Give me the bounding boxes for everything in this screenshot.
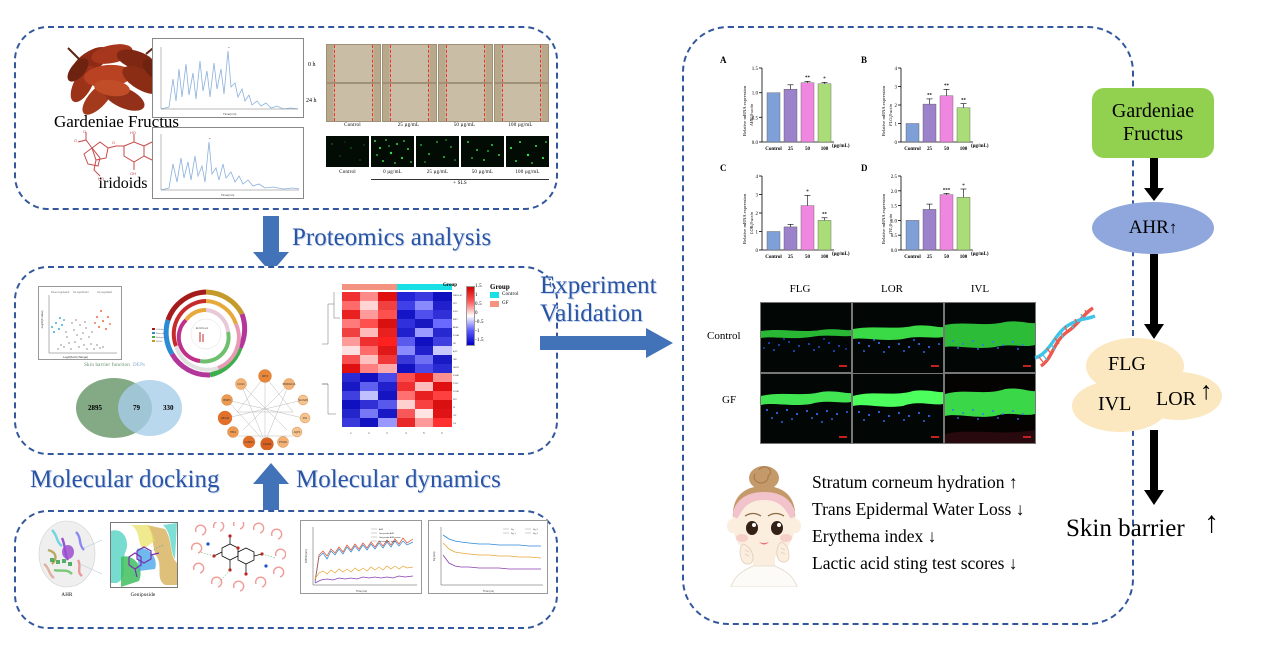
molecular-dynamics-label: Molecular dynamics [296, 466, 501, 494]
svg-text:Control: Control [904, 255, 921, 260]
svg-text:AHR: AHR [379, 528, 384, 531]
if-image-control-flg [760, 302, 852, 373]
chromatogram-bottom: Time(min) * [152, 127, 304, 199]
svg-text:1: 1 [350, 432, 352, 435]
svg-text:2: 2 [368, 432, 370, 435]
svg-text:Geniposide-Ligand: Geniposide-Ligand [379, 541, 396, 543]
svg-text:O: O [83, 130, 86, 134]
arrow-ahr-to-targets [1143, 254, 1165, 345]
clinical-outcome-sting-test: Lactic acid sting test scores ↓ [812, 553, 1018, 574]
svg-text:LOR/β-actin: LOR/β-actin [749, 211, 754, 235]
panel-letter-b: B [861, 55, 867, 65]
svg-text:*: * [228, 46, 230, 50]
scratch-assay-image [438, 83, 493, 122]
svg-text:100: 100 [960, 147, 968, 152]
svg-text:KLK10: KLK10 [237, 383, 245, 386]
svg-text:LOR: LOR [453, 415, 457, 417]
arrow-targets-to-skin-barrier [1143, 430, 1165, 511]
svg-text:Biological: Biological [156, 337, 166, 339]
scratch-assay-row-label-24h: 24 h [306, 98, 317, 104]
bar-chart-a: 0.00.5 1.01.5 *** Control25 50100 Relati… [736, 58, 840, 163]
svg-text:Control: Control [765, 255, 782, 260]
skin-barrier-up-arrow: ↑ [1204, 508, 1219, 538]
svg-text:TBK1: TBK1 [453, 359, 457, 361]
svg-text:Time (ns): Time (ns) [356, 589, 367, 593]
fluorescence-col-label: 50 µg/mL [461, 170, 504, 175]
heatmap: PPARGC1AKRT2KLK10 BNIP3ABCA8SLC6A8 FN1AQ… [318, 284, 464, 439]
svg-text:50: 50 [805, 147, 811, 152]
scratch-assay-image [438, 44, 493, 83]
scratch-col-label: Control [326, 123, 379, 128]
target-label-flg: FLG [1108, 353, 1146, 376]
gf-box-line2: Fructus [1112, 123, 1194, 146]
fluorescence-image [416, 136, 459, 167]
venn-right-count: 330 [163, 404, 174, 412]
svg-text:-Log10(P value): -Log10(P value) [40, 310, 44, 329]
heatmap-scale-bar [466, 286, 475, 346]
svg-text:4: 4 [895, 67, 898, 72]
scratch-assay-image [326, 83, 381, 122]
svg-text:Control: Control [765, 147, 782, 152]
svg-text:ABCA8: ABCA8 [221, 417, 230, 420]
heatmap-scale-tick: 0 [475, 311, 478, 316]
clinical-outcome-hydration: Stratum corneum hydration ↑ [812, 472, 1018, 493]
svg-text:KRT1: KRT1 [453, 399, 457, 401]
bar-chart-d: 0.00.51.0 1.52.02.5 **** Control25 50100… [875, 166, 979, 271]
fluorescence-image [371, 136, 414, 167]
svg-text:*: * [823, 77, 826, 82]
sls-bracket-label: + SLS [371, 181, 549, 186]
geniposide-label: Geniposide [108, 593, 178, 598]
woman-face-illustration [715, 462, 813, 587]
svg-text:Relative mRNA expression: Relative mRNA expression [742, 85, 747, 136]
svg-text:2: 2 [756, 212, 759, 217]
legend-swatch-control [490, 292, 499, 298]
svg-text:SLC6A8: SLC6A8 [299, 399, 309, 402]
svg-text:Time (ns): Time (ns) [483, 589, 494, 593]
if-col-label-ivl: IVL [940, 283, 1020, 295]
svg-text:IVL/β-actin: IVL/β-actin [888, 213, 893, 235]
if-col-label-lor: LOR [852, 283, 932, 295]
gf-box-line1: Gardeniae [1112, 100, 1194, 123]
heatmap-scale-tick: 0.5 [475, 302, 482, 307]
clinical-outcome-erythema: Erythema index ↓ [812, 526, 936, 547]
svg-text:Rg: Rg [511, 529, 514, 531]
venn-left-label: Skin barrier function [72, 363, 142, 368]
svg-text:PTGS2: PTGS2 [279, 441, 288, 444]
legend-label-control: Control [502, 292, 519, 297]
svg-text:**: ** [927, 94, 933, 99]
binding-pocket-view [110, 522, 178, 588]
svg-text:CASP14: CASP14 [244, 441, 254, 444]
md-rg-plot: RgRg_Y Rg_XRg_Z Time (ns) Rg (nm) [428, 520, 548, 594]
svg-text:KLK10: KLK10 [453, 311, 458, 313]
svg-text:0.0: 0.0 [752, 141, 759, 146]
heatmap-scale-tick: -1 [475, 329, 480, 334]
svg-text:Rg_X: Rg_X [533, 529, 539, 531]
svg-text:ABCA8: ABCA8 [453, 326, 458, 329]
experiment-validation-label-line1: Experiment [540, 272, 657, 300]
target-label-ivl: IVL [1098, 393, 1131, 416]
fluorescence-image [326, 136, 369, 167]
clinical-outcome-tewl: Trans Epidermal Water Loss ↓ [812, 499, 1024, 520]
svg-text:1.5: 1.5 [752, 67, 759, 72]
unit-label-d: (µg/mL) [971, 252, 989, 257]
svg-text:KRT2: KRT2 [453, 303, 457, 305]
svg-text:1: 1 [756, 231, 759, 236]
molecular-docking-label: Molecular docking [30, 466, 220, 494]
proteomics-analysis-label: Proteomics analysis [292, 224, 491, 252]
fluorescence-image [461, 136, 504, 167]
scratch-assay-image [326, 44, 381, 83]
svg-text:6: 6 [441, 432, 443, 435]
volcano-plot: Log2(Fold change) Down-regulated No sign… [38, 286, 122, 360]
svg-text:**: ** [961, 99, 967, 104]
svg-text:S100A9: S100A9 [453, 374, 459, 377]
svg-text:PTGS2: PTGS2 [453, 383, 458, 385]
svg-text:**: ** [805, 76, 811, 81]
heatmap-scale-tick: -1.5 [475, 338, 484, 343]
svg-text:*: * [806, 190, 809, 195]
venn-overlap-count: 79 [133, 404, 140, 412]
unit-label-b: (µg/mL) [971, 144, 989, 149]
svg-text:SLC3A2: SLC3A2 [453, 390, 459, 393]
svg-text:Rg_Y: Rg_Y [511, 533, 517, 535]
ahr-protein-structure [32, 518, 102, 590]
fluorescence-col-label: 25 µg/mL [416, 170, 459, 175]
heatmap-scale-tick: -0.5 [475, 320, 484, 325]
venn-diagram [62, 364, 200, 442]
ppi-network: KRT2KLK10PPARGC1A BNIP3SLC6A8ABCA8 FN1TB… [215, 368, 315, 450]
svg-text:2: 2 [895, 104, 898, 109]
panel-letter-a: A [720, 55, 727, 65]
sls-bracket [371, 179, 549, 180]
fluorescence-col-label: 100 µg/mL [506, 170, 549, 175]
svg-text:IVL: IVL [453, 407, 456, 409]
svg-text:FN1: FN1 [303, 417, 308, 420]
svg-text:1.5: 1.5 [891, 205, 898, 210]
svg-text:O: O [74, 138, 77, 143]
bar-chart-c: 012 34 *** Control25 50100 Relative mRNA… [736, 166, 840, 271]
svg-text:***: *** [943, 189, 951, 194]
scratch-col-label: 50 µg/mL [438, 123, 491, 128]
svg-text:**: ** [944, 84, 950, 89]
svg-text:RMSD (nm): RMSD (nm) [304, 549, 308, 563]
experiment-validation-arrow [540, 328, 674, 363]
if-image-gf-ivl [944, 373, 1036, 444]
svg-text:Control: Control [904, 147, 921, 152]
target-label-lor: LOR [1156, 388, 1196, 411]
scratch-assay-image [494, 83, 549, 122]
heatmap-group-row-title: Group [443, 283, 457, 288]
scratch-assay-row-label-0h: 0 h [308, 62, 316, 68]
ahr-node: AHR↑ [1092, 202, 1214, 254]
svg-text:4: 4 [405, 432, 407, 435]
svg-text:*: * [209, 137, 211, 141]
svg-text:1.0: 1.0 [752, 92, 759, 97]
svg-text:SLC6A8: SLC6A8 [453, 334, 459, 337]
svg-text:1: 1 [895, 123, 898, 128]
svg-text:FN1: FN1 [453, 343, 456, 345]
svg-text:AQP3: AQP3 [294, 431, 301, 434]
venn-right-label: DEPs [133, 363, 145, 368]
svg-text:PPARGC1A: PPARGC1A [453, 294, 462, 297]
svg-text:Enrichment: Enrichment [196, 327, 208, 330]
svg-text:Log2(Fold change): Log2(Fold change) [63, 355, 88, 359]
svg-text:50: 50 [944, 255, 950, 260]
gardeniae-fructus-box: Gardeniae Fructus [1092, 88, 1214, 158]
svg-text:25: 25 [788, 147, 794, 152]
svg-text:0.0: 0.0 [891, 249, 898, 254]
svg-text:BNIP3: BNIP3 [224, 399, 232, 402]
heatmap-scale-tick: 1.5 [475, 284, 482, 289]
unit-label-c: (µg/mL) [832, 252, 850, 257]
svg-text:TBK1: TBK1 [230, 431, 237, 434]
svg-text:Time(min): Time(min) [223, 112, 236, 116]
if-row-label-control: Control [707, 330, 741, 342]
svg-text:AHR/β-actin: AHR/β-actin [749, 103, 754, 127]
if-image-gf-flg [760, 373, 852, 444]
svg-text:S100A9: S100A9 [263, 443, 272, 446]
if-image-control-ivl [944, 302, 1036, 373]
svg-text:KRT2: KRT2 [262, 375, 269, 378]
svg-text:5: 5 [423, 432, 425, 435]
heatmap-scale-tick: 1 [475, 293, 478, 298]
svg-text:FLG/β-actin: FLG/β-actin [888, 103, 893, 127]
ahr-label: AHR [32, 593, 102, 598]
svg-text:AQP3: AQP3 [453, 350, 457, 353]
chromatogram-top: Time(min) * [152, 38, 304, 118]
scratch-assay-image [382, 44, 437, 83]
legend-label-gf: GF [502, 301, 509, 306]
if-col-label-flg: FLG [760, 283, 840, 295]
scratch-col-label: 25 µg/mL [382, 123, 435, 128]
unit-label-a: (µg/mL) [832, 144, 850, 149]
legend-swatch-gf [490, 301, 499, 307]
svg-text:50: 50 [805, 255, 811, 260]
svg-text:Relative mRNA expression: Relative mRNA expression [742, 193, 747, 244]
fluorescence-image [506, 136, 549, 167]
scratch-assay-image [382, 83, 437, 122]
svg-text:Relative mRNA expression: Relative mRNA expression [881, 193, 886, 244]
svg-text:Geniposide-AHR-protein: Geniposide-AHR-protein [379, 536, 401, 539]
svg-text:4: 4 [756, 175, 759, 180]
svg-text:3: 3 [756, 194, 759, 199]
panel-letter-d: D [861, 163, 868, 173]
svg-text:100: 100 [960, 255, 968, 260]
svg-text:HO: HO [130, 130, 136, 135]
svg-text:KEGG: KEGG [156, 341, 163, 343]
md-rmsd-plot: AHRGeniposide-AHR Geniposide-AHR-protein… [300, 520, 422, 594]
svg-text:0: 0 [756, 249, 759, 254]
if-image-gf-lor [852, 373, 944, 444]
svg-text:Rg (nm): Rg (nm) [432, 551, 436, 561]
svg-text:Down-regulated: Down-regulated [51, 290, 70, 294]
svg-text:**: ** [822, 213, 828, 218]
svg-text:Rg_Z: Rg_Z [533, 533, 539, 535]
venn-left-count: 2895 [88, 404, 102, 412]
svg-text:3: 3 [895, 86, 898, 91]
fluorescence-col-label: Control [326, 170, 369, 175]
svg-text:25: 25 [927, 147, 933, 152]
bar-chart-b: 012 34 ****** Control25 50100 Relative m… [875, 58, 979, 163]
svg-text:3: 3 [386, 432, 388, 435]
svg-text:FLG: FLG [453, 423, 457, 425]
svg-text:Relative mRNA expression: Relative mRNA expression [881, 85, 886, 136]
svg-text:100: 100 [821, 255, 829, 260]
svg-text:25: 25 [788, 255, 794, 260]
svg-text:Cellular: Cellular [156, 328, 164, 331]
skin-barrier-label: Skin barrier [1066, 515, 1185, 543]
svg-text:PPARGC1A: PPARGC1A [283, 383, 296, 386]
if-image-control-lor [852, 302, 944, 378]
scratch-assay-image [494, 44, 549, 83]
svg-text:Time(min): Time(min) [221, 193, 234, 197]
scratch-col-label: 100 µg/mL [494, 123, 547, 128]
arrow-gf-to-ahr [1143, 158, 1165, 207]
svg-text:*: * [962, 184, 965, 189]
if-row-label-gf: GF [722, 394, 736, 406]
svg-text:No significant: No significant [73, 290, 89, 294]
svg-text:Molecular: Molecular [156, 332, 166, 335]
svg-text:0: 0 [895, 141, 898, 146]
svg-text:100: 100 [821, 147, 829, 152]
experiment-validation-label-line2: Validation [540, 300, 643, 328]
heatmap-group-legend-title: Group [490, 283, 510, 291]
ahr-up-arrow: ↑ [1169, 218, 1178, 238]
svg-text:25: 25 [927, 255, 933, 260]
ahr-node-label: AHR [1129, 217, 1169, 239]
svg-text:Up-regulated: Up-regulated [97, 290, 113, 294]
fluorescence-col-label: 0 µg/mL [371, 170, 414, 175]
svg-text:50: 50 [944, 147, 950, 152]
svg-text:BNIP3: BNIP3 [453, 319, 458, 321]
svg-text:Geniposide-AHR: Geniposide-AHR [379, 532, 395, 535]
ligand-interaction-diagram [188, 522, 286, 594]
svg-text:2.5: 2.5 [891, 175, 898, 180]
svg-text:2.0: 2.0 [891, 190, 898, 195]
target-up-arrow: ↑ [1200, 379, 1213, 404]
svg-text:CASP14: CASP14 [453, 366, 459, 369]
svg-text:O: O [112, 140, 115, 145]
panel-letter-c: C [720, 163, 727, 173]
